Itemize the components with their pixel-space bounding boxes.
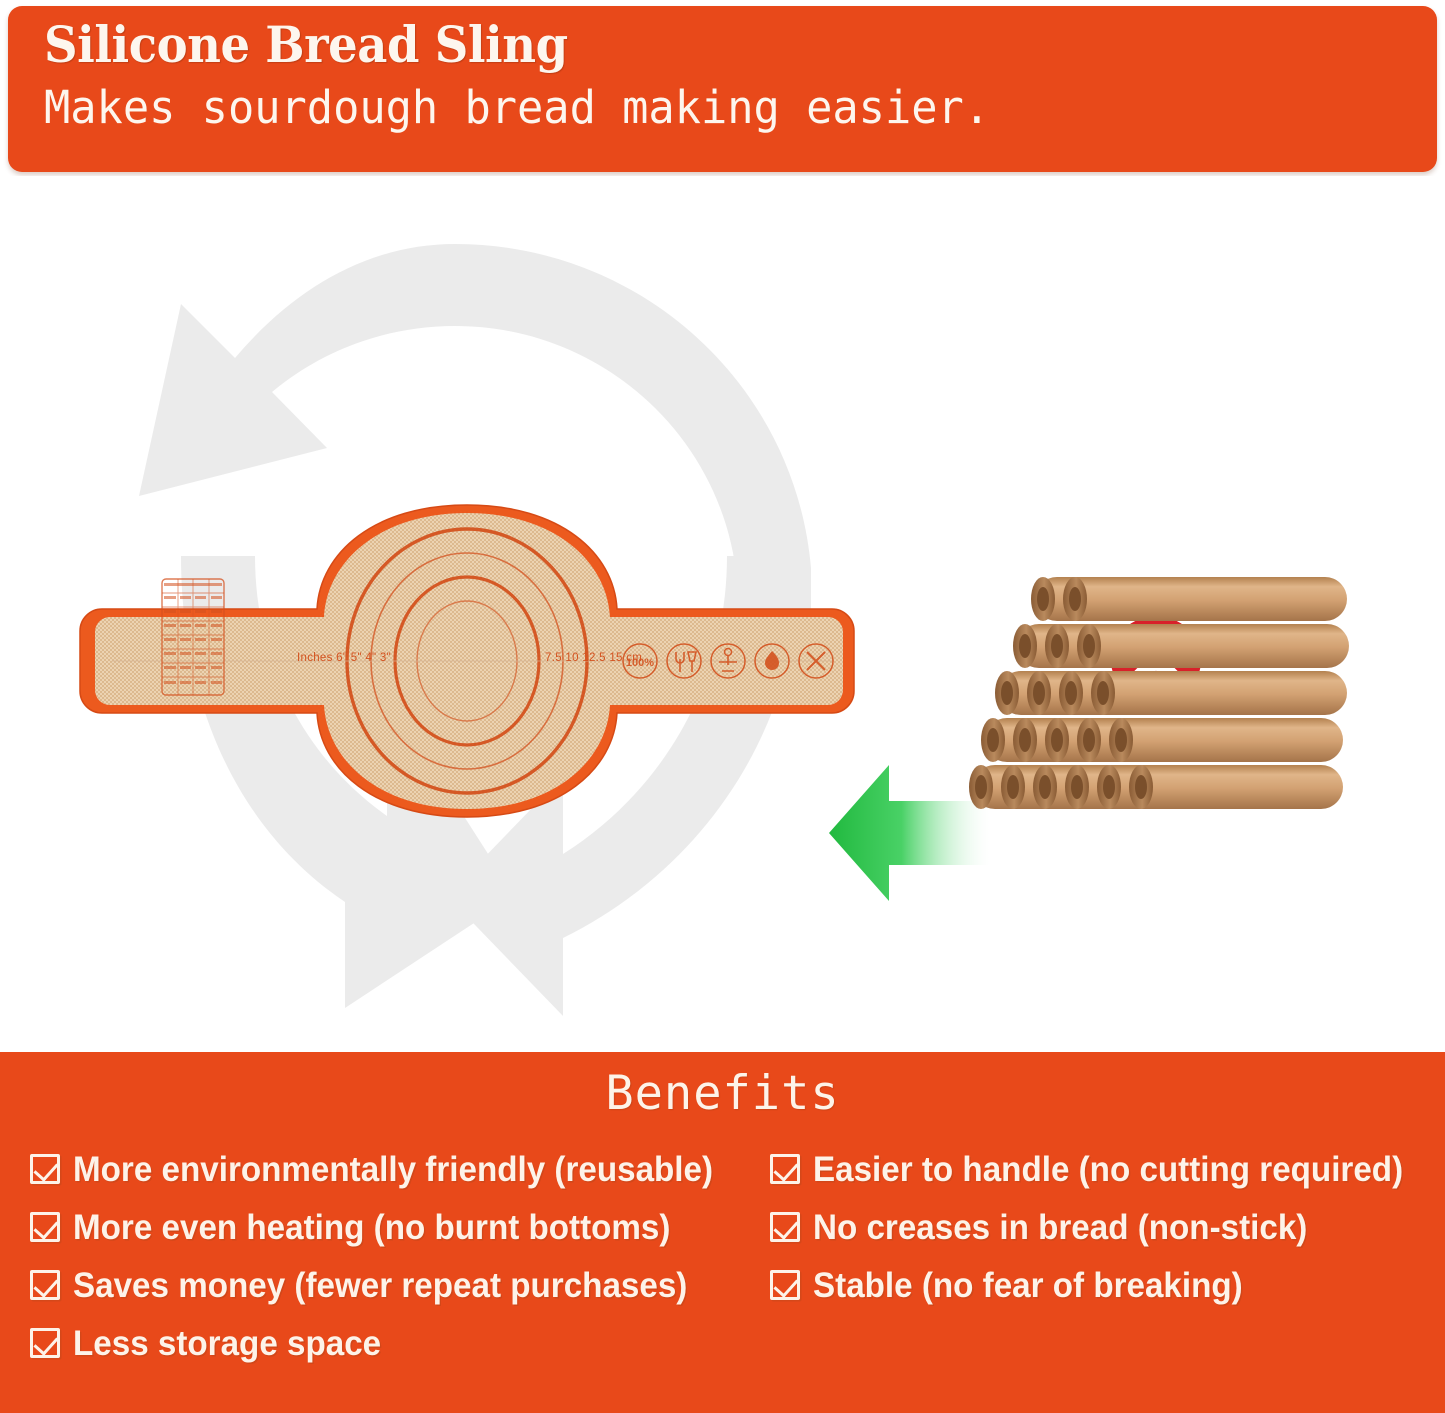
checkbox-checked-icon: [770, 1154, 800, 1184]
benefit-item: Easier to handle (no cutting required): [770, 1140, 1440, 1198]
roll-row: [1013, 624, 1349, 668]
illustration-stage: 100%: [0, 176, 1445, 1052]
roll-row: [969, 765, 1343, 809]
benefit-item: More environmentally friendly (reusable): [30, 1140, 770, 1198]
benefit-item: More even heating (no burnt bottoms): [30, 1198, 770, 1256]
roll-row: [995, 671, 1347, 715]
benefit-label: Easier to handle (no cutting required): [813, 1152, 1403, 1188]
benefit-item: Less storage space: [30, 1314, 770, 1372]
benefit-label: Stable (no fear of breaking): [813, 1268, 1243, 1304]
svg-text:100%: 100%: [626, 657, 654, 669]
checkbox-checked-icon: [30, 1212, 60, 1242]
benefit-label: More environmentally friendly (reusable): [73, 1152, 713, 1188]
benefit-item: Saves money (fewer repeat purchases): [30, 1256, 770, 1314]
checkbox-checked-icon: [30, 1154, 60, 1184]
silicone-bread-sling-mat: 100%: [72, 491, 862, 831]
benefit-label: No creases in bread (non-stick): [813, 1210, 1307, 1246]
benefit-label: Saves money (fewer repeat purchases): [73, 1268, 687, 1304]
benefit-item: No creases in bread (non-stick): [770, 1198, 1440, 1256]
benefit-item: Stable (no fear of breaking): [770, 1256, 1440, 1314]
checkbox-checked-icon: [770, 1212, 800, 1242]
benefits-title: Benefits: [0, 1066, 1445, 1122]
page-subtitle: Makes sourdough bread making easier.: [44, 84, 1360, 131]
benefit-label: More even heating (no burnt bottoms): [73, 1210, 670, 1246]
benefit-label: Less storage space: [73, 1326, 381, 1362]
checkbox-checked-icon: [30, 1328, 60, 1358]
benefits-column-left: More environmentally friendly (reusable)…: [30, 1140, 770, 1372]
roll-row: [1031, 577, 1347, 621]
roll-row: [981, 718, 1343, 762]
parchment-paper-rolls: [955, 566, 1355, 816]
page-title: Silicone Bread Sling: [44, 20, 1306, 70]
checkbox-checked-icon: [770, 1270, 800, 1300]
benefits-section: Benefits More environmentally friendly (…: [0, 1052, 1445, 1413]
checkbox-checked-icon: [30, 1270, 60, 1300]
benefits-column-right: Easier to handle (no cutting required) N…: [770, 1140, 1440, 1314]
mat-graphic: 100%: [72, 491, 862, 831]
header-banner: Silicone Bread Sling Makes sourdough bre…: [8, 6, 1437, 172]
